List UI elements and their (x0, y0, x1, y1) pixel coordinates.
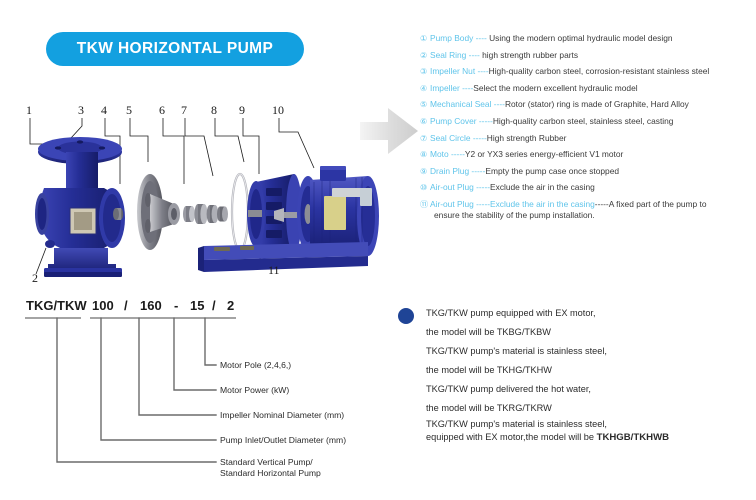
legend-item: ⑨Drain Plug -----Empty the pump case onc… (420, 166, 756, 177)
parts-legend: ①Pump Body ---- Using the modern optimal… (420, 33, 756, 227)
callout-number: 4 (101, 103, 107, 117)
legend-number: ① (420, 33, 430, 44)
legend-number: ③ (420, 66, 430, 77)
model-code-part: / (212, 298, 216, 313)
model-code-part: 100 (92, 298, 114, 313)
model-code-part: 15 (190, 298, 204, 313)
legend-number: ② (420, 50, 430, 61)
callout-number: 5 (126, 103, 132, 117)
legend-part-name: Impeller (430, 83, 460, 93)
exploded-pump-diagram: 1 2 3 4 5 6 7 8 9 10 11 (8, 96, 388, 286)
nomenclature-leader-lines (57, 318, 216, 462)
nomenclature-label: Motor Power (kW) (220, 385, 289, 395)
model-variant-notes: TKG/TKW pump equipped with EX motor, the… (398, 304, 756, 444)
callout-number: 11 (268, 263, 280, 277)
legend-number: ⑦ (420, 133, 430, 144)
model-code-part: / (124, 298, 128, 313)
part-base-plate (198, 242, 368, 272)
legend-part-name: Air-out Plug -----Exclude the air in the… (430, 199, 595, 209)
legend-item: ⑦Seal Circle -----High strength Rubber (420, 133, 756, 144)
legend-number: ⑨ (420, 166, 430, 177)
legend-number: ⑩ (420, 182, 430, 193)
legend-dash: ---- (475, 66, 488, 76)
part-mechanical-seal (183, 204, 228, 224)
legend-dash: ---- (491, 99, 504, 109)
legend-item: ⑤Mechanical Seal ----Rotor (stator) ring… (420, 99, 756, 110)
callout-number: 10 (272, 103, 284, 117)
legend-item: ①Pump Body ---- Using the modern optimal… (420, 33, 756, 44)
legend-item: ③Impeller Nut ----High-quality carbon st… (420, 66, 756, 77)
note-line: TKG/TKW pump's material is stainless ste… (426, 342, 756, 361)
legend-part-name: Air-out Plug (430, 182, 474, 192)
legend-part-name: Impeller Nut (430, 66, 475, 76)
legend-description: Exclude the air in the casing (490, 182, 595, 192)
note-line: TKG/TKW pump delivered the hot water, (426, 380, 756, 399)
legend-item: ⑪Air-out Plug -----Exclude the air in th… (420, 199, 756, 221)
note-final-prefix: equipped with EX motor,the model will be (426, 432, 597, 442)
model-code-part: 160 (140, 298, 162, 313)
legend-description: High-quality carbon steel, stainless ste… (493, 116, 674, 126)
legend-dash: ----- (477, 116, 493, 126)
part-impeller-nut (113, 208, 123, 220)
callout-number: 3 (78, 103, 84, 117)
part-impeller (137, 174, 180, 250)
nomenclature-label: Pump Inlet/Outlet Diameter (mm) (220, 435, 346, 445)
legend-description: A fixed part of the pump to (609, 199, 707, 209)
legend-part-name: Seal Ring (430, 50, 466, 60)
legend-description: Empty the pump case once stopped (485, 166, 619, 176)
legend-part-name: Mechanical Seal (430, 99, 491, 109)
note-final-line-1: TKG/TKW pump's material is stainless ste… (426, 418, 756, 431)
legend-description: Using the modern optimal hydraulic model… (489, 33, 672, 43)
flow-arrow-icon (358, 100, 420, 162)
legend-description: Select the modern excellent hydraulic mo… (473, 83, 637, 93)
callout-number: 9 (239, 103, 245, 117)
callout-number: 8 (211, 103, 217, 117)
legend-part-name: Pump Body (430, 33, 473, 43)
part-seal-circle (232, 174, 248, 250)
page-title: TKW HORIZONTAL PUMP (77, 40, 273, 58)
legend-item: ④Impeller ----Select the modern excellen… (420, 83, 756, 94)
legend-number: ⑧ (420, 149, 430, 160)
poster-root: TKW HORIZONTAL PUMP (0, 0, 756, 500)
model-code-part: 2 (227, 298, 234, 313)
legend-item: ②Seal Ring ---- high strength rubber par… (420, 50, 756, 61)
callout-number: 2 (32, 271, 38, 285)
callout-number: 1 (26, 103, 32, 117)
note-line: TKG/TKW pump equipped with EX motor, (426, 304, 756, 323)
note-line: the model will be TKBG/TKBW (426, 323, 756, 342)
legend-dash: ---- (466, 50, 482, 60)
legend-dash: ----- (469, 166, 485, 176)
nomenclature-label: Standard Horizontal Pump (220, 468, 321, 478)
legend-dash: ---- (460, 83, 473, 93)
nomenclature-labels: Motor Pole (2,4,6,) Motor Power (kW) Imp… (220, 360, 346, 478)
legend-number: ⑥ (420, 116, 430, 127)
callout-number: 7 (181, 103, 187, 117)
legend-dash: ----- (449, 149, 465, 159)
nomenclature-label: Motor Pole (2,4,6,) (220, 360, 291, 370)
legend-part-name: Moto (430, 149, 449, 159)
legend-description: Rotor (stator) ring is made of Graphite,… (505, 99, 689, 109)
note-line: the model will be TKRG/TKRW (426, 399, 756, 418)
model-code-part: TKG/TKW (26, 298, 87, 313)
legend-part-name: Drain Plug (430, 166, 469, 176)
legend-description: High-quality carbon steel, corrosion-res… (489, 66, 710, 76)
legend-part-name: Seal Circle (430, 133, 471, 143)
bullet-dot-icon (398, 308, 414, 324)
legend-description: High strength Rubber (487, 133, 567, 143)
legend-item: ⑧Moto -----Y2 or YX3 series energy-effic… (420, 149, 756, 160)
legend-description-continued: ensure the stability of the pump install… (420, 210, 756, 221)
nomenclature-label: Standard Vertical Pump/ (220, 457, 313, 467)
legend-part-name: Pump Cover (430, 116, 477, 126)
callout-number: 6 (159, 103, 165, 117)
model-code-row: TKG/TKW 100 / 160 - 15 / 2 (26, 298, 234, 313)
nomenclature-label: Impeller Nominal Diameter (mm) (220, 410, 344, 420)
note-final-line-2: equipped with EX motor,the model will be… (426, 431, 756, 444)
legend-item: ⑥Pump Cover -----High-quality carbon ste… (420, 116, 756, 127)
legend-dash: ---- (473, 33, 489, 43)
legend-dash: ----- (474, 182, 490, 192)
legend-number: ⑤ (420, 99, 430, 110)
note-final-model-code: TKHGB/TKHWB (597, 432, 669, 443)
legend-dash: ----- (595, 199, 609, 209)
legend-description: high strength rubber parts (482, 50, 578, 60)
legend-number: ④ (420, 83, 430, 94)
model-nomenclature-diagram: TKG/TKW 100 / 160 - 15 / 2 (8, 292, 400, 492)
note-line: the model will be TKHG/TKHW (426, 361, 756, 380)
model-code-part: - (174, 298, 178, 313)
legend-item: ⑩Air-out Plug -----Exclude the air in th… (420, 182, 756, 193)
page-title-pill: TKW HORIZONTAL PUMP (46, 32, 304, 66)
legend-dash: ----- (471, 133, 487, 143)
part-pump-body (35, 137, 125, 277)
legend-description: Y2 or YX3 series energy-efficient V1 mot… (465, 149, 623, 159)
legend-number: ⑪ (420, 199, 430, 210)
